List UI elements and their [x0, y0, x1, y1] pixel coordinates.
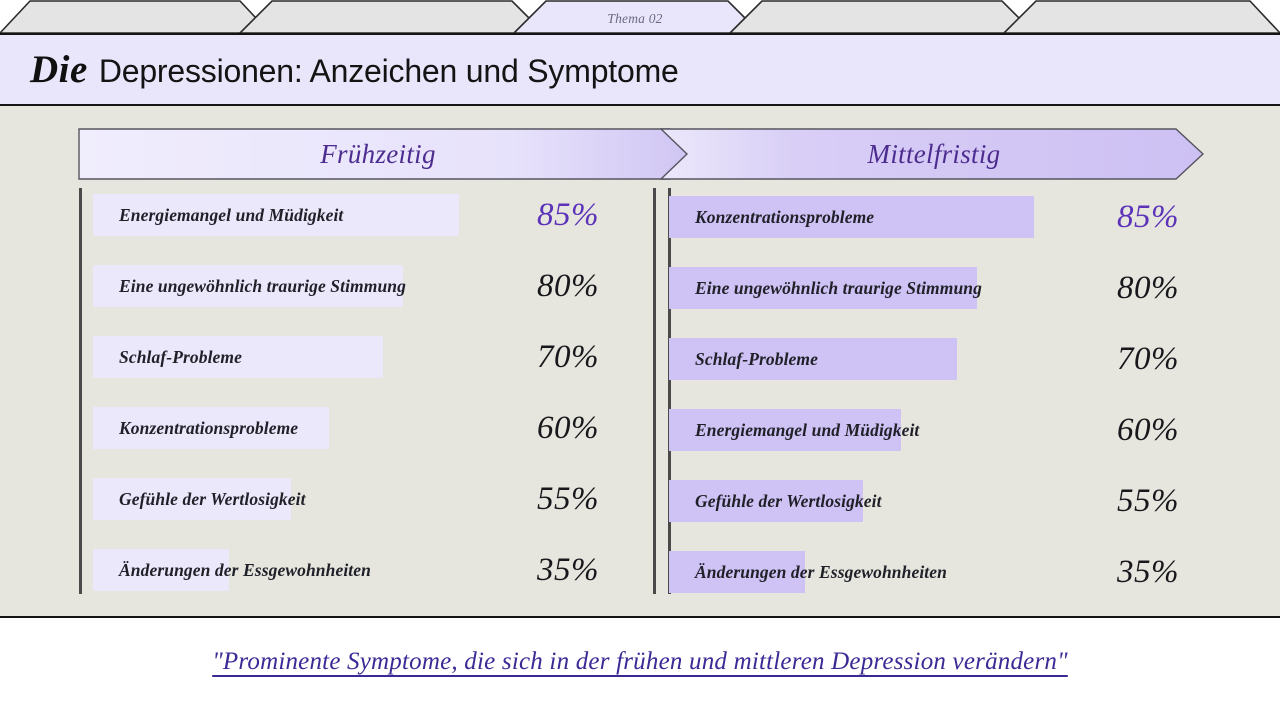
- divider-center: [653, 188, 656, 594]
- row-value: 60%: [1117, 401, 1179, 459]
- tab-shape-4[interactable]: [730, 1, 1034, 33]
- tab-shape-1[interactable]: [0, 1, 270, 33]
- row-label: Energiemangel und Müdigkeit: [119, 186, 343, 244]
- row-label: Gefühle der Wertlosigkeit: [695, 472, 882, 530]
- row-value: 60%: [537, 399, 599, 457]
- table-row[interactable]: Gefühle der Wertlosigkeit 55%: [669, 470, 1229, 541]
- slide-header: Die Depressionen: Anzeichen und Symptome: [0, 33, 1280, 106]
- column-fruehzeitig: Energiemangel und Müdigkeit 85% Eine ung…: [93, 186, 653, 612]
- page-title: Die Depressionen: Anzeichen und Symptome: [0, 47, 679, 92]
- row-label: Energiemangel und Müdigkeit: [695, 401, 919, 459]
- row-label: Änderungen der Essgewohnheiten: [119, 541, 371, 599]
- row-value: 55%: [1117, 472, 1179, 530]
- row-label: Schlaf-Probleme: [119, 328, 242, 386]
- content-panel: Frühzeitig Mittelfristig: [0, 106, 1280, 618]
- table-row[interactable]: Konzentrationsprobleme 60%: [93, 399, 653, 470]
- row-value: 35%: [1117, 543, 1179, 601]
- table-row[interactable]: Schlaf-Probleme 70%: [93, 328, 653, 399]
- row-label: Änderungen der Essgewohnheiten: [695, 543, 947, 601]
- tab-shape-5[interactable]: [1004, 1, 1280, 33]
- row-value: 70%: [537, 328, 599, 386]
- row-label: Eine ungewöhnlich traurige Stimmung: [119, 257, 406, 315]
- row-value: 55%: [537, 470, 599, 528]
- row-label: Konzentrationsprobleme: [119, 399, 298, 457]
- row-value: 85%: [1117, 188, 1179, 246]
- column-mittelfristig: Konzentrationsprobleme 85% Eine ungewöhn…: [669, 186, 1229, 612]
- tab-shape-2[interactable]: [240, 1, 544, 33]
- page-title-rest: Depressionen: Anzeichen und Symptome: [99, 53, 679, 90]
- table-row[interactable]: Schlaf-Probleme 70%: [669, 328, 1229, 399]
- table-row[interactable]: Änderungen der Essgewohnheiten 35%: [93, 541, 653, 612]
- slide: Thema 02 Die Depressionen: Anzeichen und…: [0, 0, 1280, 720]
- row-label: Schlaf-Probleme: [695, 330, 818, 388]
- row-value: 35%: [537, 541, 599, 599]
- row-label: Gefühle der Wertlosigkeit: [119, 470, 306, 528]
- table-row[interactable]: Eine ungewöhnlich traurige Stimmung 80%: [93, 257, 653, 328]
- table-row[interactable]: Energiemangel und Müdigkeit 60%: [669, 399, 1229, 470]
- row-label: Eine ungewöhnlich traurige Stimmung: [695, 259, 982, 317]
- row-value: 85%: [537, 186, 599, 244]
- table-row[interactable]: Gefühle der Wertlosigkeit 55%: [93, 470, 653, 541]
- footer-caption: "Prominente Symptome, die sich in der fr…: [212, 648, 1068, 676]
- divider-left: [79, 188, 82, 594]
- tab-strip: Thema 02: [0, 0, 1280, 34]
- row-value: 70%: [1117, 330, 1179, 388]
- table-row[interactable]: Eine ungewöhnlich traurige Stimmung 80%: [669, 257, 1229, 328]
- row-value: 80%: [537, 257, 599, 315]
- column-heading-mittelfristig[interactable]: Mittelfristig: [660, 128, 1205, 180]
- table-row[interactable]: Änderungen der Essgewohnheiten 35%: [669, 541, 1229, 612]
- column-heading-fruehzeitig[interactable]: Frühzeitig: [78, 128, 700, 180]
- tab-label-thema-02[interactable]: Thema 02: [545, 11, 725, 27]
- chevron-shape-right: [660, 128, 1205, 180]
- chevron-shape-left: [78, 128, 700, 180]
- page-title-emphasis: Die: [30, 47, 88, 92]
- footer-caption-wrap: "Prominente Symptome, die sich in der fr…: [0, 648, 1280, 676]
- column-headings: Frühzeitig Mittelfristig: [0, 128, 1280, 184]
- row-value: 80%: [1117, 259, 1179, 317]
- row-label: Konzentrationsprobleme: [695, 188, 874, 246]
- table-row[interactable]: Konzentrationsprobleme 85%: [669, 186, 1229, 257]
- table-row[interactable]: Energiemangel und Müdigkeit 85%: [93, 186, 653, 257]
